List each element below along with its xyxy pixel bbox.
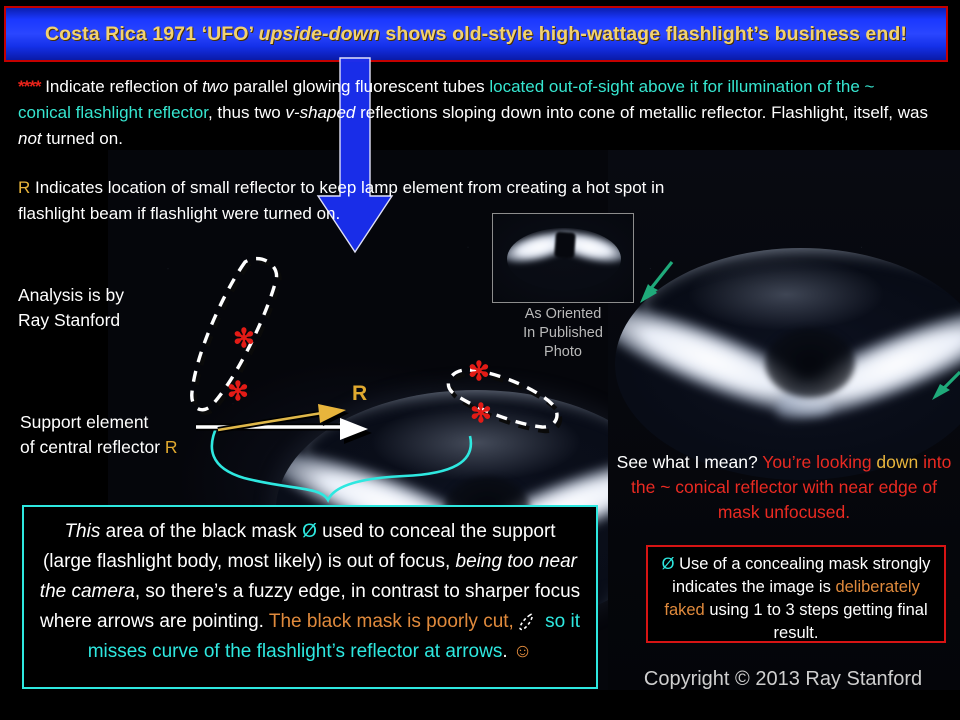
support-line-1: Support element [20, 410, 178, 435]
right-commentary-text: See what I mean? You’re looking down int… [612, 450, 956, 525]
p1-italic-vshaped: v-shaped [285, 103, 355, 122]
analysis-line-1: Analysis is by [18, 283, 124, 308]
page-title: Costa Rica 1971 ‘UFO’ upside-down shows … [45, 23, 907, 46]
support-marker-r: R [165, 437, 178, 457]
paragraph-one: **** Indicate reflection of two parallel… [18, 74, 930, 152]
smiley-icon: ☺ [513, 641, 532, 662]
support-line-2: of central reflector R [20, 435, 178, 460]
support-element-label: Support element of central reflector R [20, 410, 178, 460]
inset-caption: As Oriented In Published Photo [492, 305, 634, 362]
cyanbox-orange-phrase: The black mask is poorly cut, [269, 611, 514, 632]
analysis-line-2: Ray Stanford [18, 308, 124, 333]
red-warning-box: Ø Use of a concealing mask strongly indi… [646, 545, 946, 643]
p1-italic-two: two [202, 77, 228, 96]
p2-marker-r: R [18, 178, 30, 197]
title-part1: Costa Rica 1971 ‘UFO’ [45, 23, 259, 45]
inset-published-photo [492, 213, 634, 303]
p1-seg1: Indicate reflection of [40, 77, 202, 96]
title-part2: shows old-style high-wattage flashlight’… [380, 23, 907, 45]
redbox-slash-symbol: Ø [662, 555, 675, 573]
right-text-red1: You’re looking [762, 452, 876, 472]
inline-dashed-oval-icon [514, 612, 540, 632]
p1-seg5: turned on. [42, 129, 123, 148]
support-line-2-text: of central reflector [20, 437, 165, 457]
slide-title-bar: Costa Rica 1971 ‘UFO’ upside-down shows … [4, 6, 948, 62]
p1-seg3: , thus two [208, 103, 285, 122]
inset-caption-line-3: Photo [492, 343, 634, 362]
title-italic: upside-down [259, 23, 380, 45]
cyanbox-seg1: area of the black mask [100, 521, 302, 542]
red-asterisks: **** [18, 77, 40, 96]
inset-disc [507, 228, 621, 290]
slide-canvas: Costa Rica 1971 ‘UFO’ upside-down shows … [0, 0, 960, 720]
p1-seg4: reflections sloping down into cone of me… [355, 103, 928, 122]
analysis-credit: Analysis is by Ray Stanford [18, 283, 124, 333]
disc-dark-core-2 [765, 328, 855, 398]
inset-caption-line-2: In Published [492, 324, 634, 343]
inset-notch [554, 231, 576, 258]
p1-seg2: parallel glowing fluorescent tubes [229, 77, 490, 96]
inset-caption-line-1: As Oriented [492, 305, 634, 324]
cyanbox-italic-this: This [64, 521, 100, 542]
cyanbox-seg4: . [502, 641, 513, 662]
right-text-gold: down [876, 452, 918, 472]
right-text-white: See what I mean? [617, 452, 763, 472]
redbox-seg2: using 1 to 3 steps getting final result. [705, 601, 928, 642]
p1-italic-not: not [18, 129, 42, 148]
copyright-notice: Copyright © 2013 Ray Stanford [618, 668, 948, 691]
cyan-explanation-box: This area of the black mask Ø used to co… [22, 505, 598, 689]
cyanbox-slash-symbol: Ø [302, 521, 317, 542]
